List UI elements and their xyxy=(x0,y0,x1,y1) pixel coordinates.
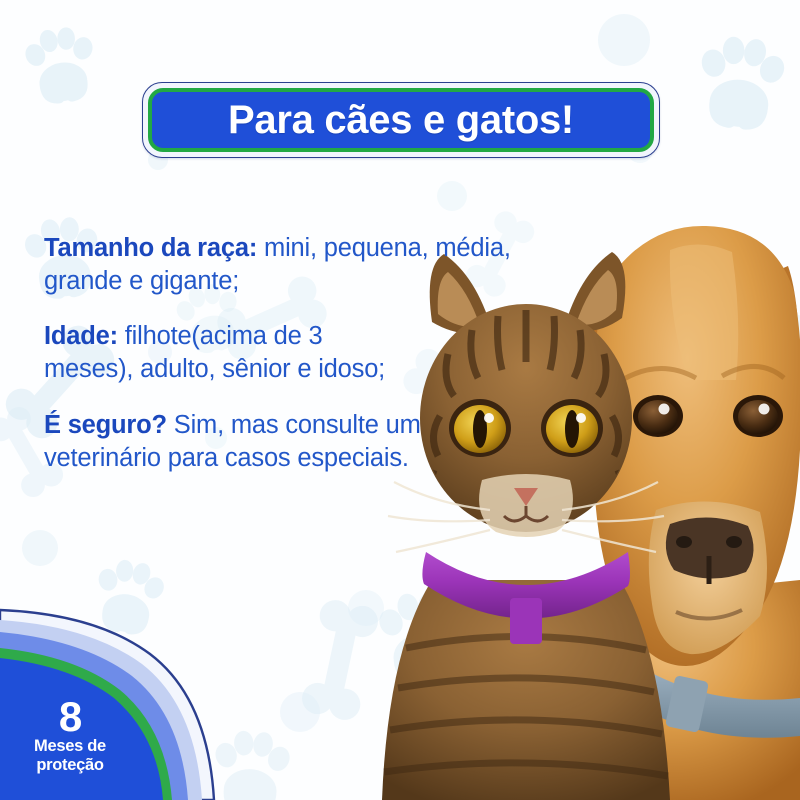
copy-label-breed-size: Tamanho da raça: xyxy=(44,234,257,262)
poster-canvas: Para cães e gatos! Tamanho da raça: mini… xyxy=(0,0,800,800)
copy-block: Tamanho da raça: mini, pequena, média, g… xyxy=(44,232,524,475)
title-banner-inner: Para cães e gatos! xyxy=(148,88,654,152)
protection-duration-badge xyxy=(0,570,230,800)
copy-label-age: Idade: xyxy=(44,322,118,350)
copy-paragraph-safety: É seguro? Sim, mas consulte um veterinár… xyxy=(44,409,444,475)
copy-label-safety: É seguro? xyxy=(44,411,167,439)
copy-paragraph-breed-size: Tamanho da raça: mini, pequena, média, g… xyxy=(44,232,514,298)
page-title: Para cães e gatos! xyxy=(228,100,574,140)
dog-right-eye xyxy=(733,395,783,437)
copy-paragraph-age: Idade: filhote(acima de 3 meses), adulto… xyxy=(44,320,414,386)
title-banner: Para cães e gatos! xyxy=(142,82,660,158)
dog-left-eye xyxy=(633,395,683,437)
cat-right-eye xyxy=(541,399,603,457)
